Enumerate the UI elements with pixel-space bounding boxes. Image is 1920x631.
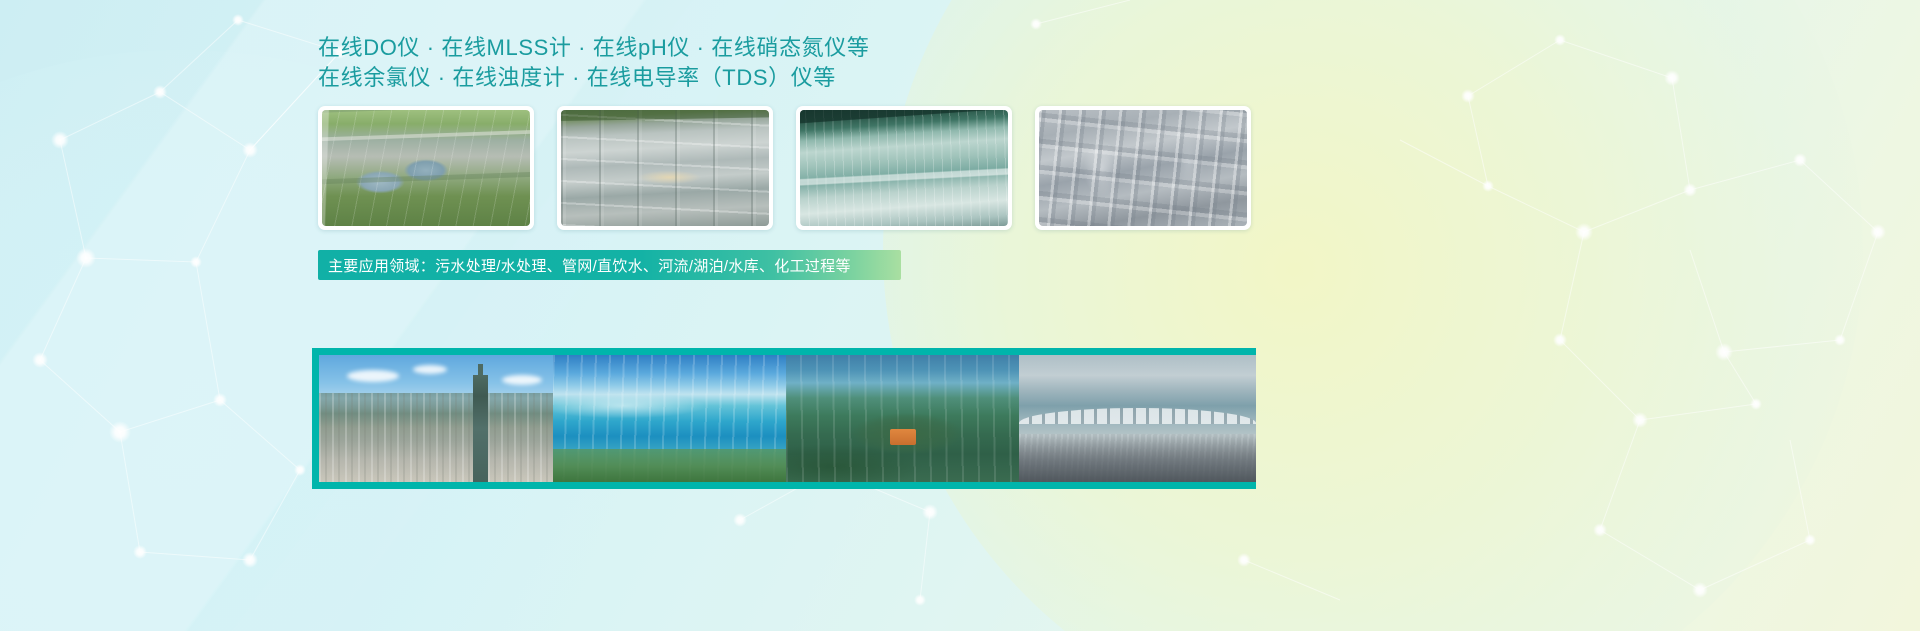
overflow-weir-water-image bbox=[800, 110, 1008, 226]
photo-card-sedimentation-tanks bbox=[557, 106, 773, 230]
photo-card-wastewater-treatment-plant-aerial bbox=[318, 106, 534, 230]
banner-stage: 在线DO仪 · 在线MLSS计 · 在线pH仪 · 在线硝态氮仪等 在线余氯仪 … bbox=[0, 0, 1920, 631]
wastewater-treatment-plant-aerial-image bbox=[322, 110, 530, 226]
sedimentation-tanks-image bbox=[561, 110, 769, 226]
product-photo-row bbox=[318, 106, 1251, 230]
headline-line-1: 在线DO仪 · 在线MLSS计 · 在线pH仪 · 在线硝态氮仪等 bbox=[318, 33, 870, 63]
scenery-photo-strip-inner bbox=[319, 355, 1256, 482]
city-skyline-image bbox=[319, 355, 553, 482]
cloud-shape bbox=[347, 370, 399, 382]
island-lagoon-image bbox=[786, 355, 1019, 482]
photo-card-industrial-piping bbox=[1035, 106, 1251, 230]
photo-card-overflow-weir-water bbox=[796, 106, 1012, 230]
industrial-piping-image bbox=[1039, 110, 1247, 226]
application-fields-bar: 主要应用领域：污水处理/水处理、管网/直饮水、河流/湖泊/水库、化工过程等 bbox=[318, 250, 901, 280]
headline-text: 在线DO仪 · 在线MLSS计 · 在线pH仪 · 在线硝态氮仪等 在线余氯仪 … bbox=[318, 33, 870, 93]
rocky-shoreline-image bbox=[1019, 355, 1256, 482]
coastal-bay-image bbox=[553, 355, 786, 482]
scenery-photo-strip bbox=[312, 348, 1256, 489]
headline-line-2: 在线余氯仪 · 在线浊度计 · 在线电导率（TDS）仪等 bbox=[318, 63, 870, 93]
background-diagonal-bands bbox=[0, 0, 1920, 631]
cloud-shape bbox=[502, 375, 542, 385]
application-fields-label: 主要应用领域：污水处理/水处理、管网/直饮水、河流/湖泊/水库、化工过程等 bbox=[328, 255, 851, 276]
cloud-shape bbox=[413, 365, 447, 374]
